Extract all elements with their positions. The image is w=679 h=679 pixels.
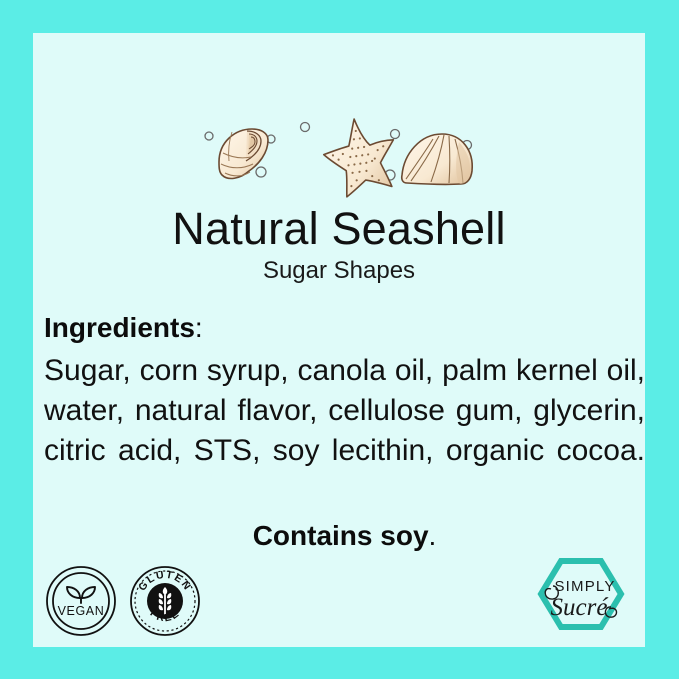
- gluten-free-badge: GLUTEN FREE: [129, 565, 201, 637]
- starfish-icon: [319, 114, 400, 199]
- brand-name-top: SIMPLY: [554, 578, 615, 595]
- ingredients-heading: Ingredients:: [44, 310, 645, 345]
- ingredients-heading-colon: :: [195, 312, 203, 343]
- certification-badges: VEGAN: [45, 565, 201, 637]
- vegan-badge: VEGAN: [45, 565, 117, 637]
- seashell-illustration: [33, 108, 645, 200]
- product-label-card: Natural Seashell Sugar Shapes Ingredient…: [33, 33, 645, 647]
- ingredients-heading-label: Ingredients: [44, 312, 195, 343]
- allergen-statement: Contains soy.: [44, 518, 645, 553]
- vegan-badge-label: VEGAN: [58, 604, 105, 618]
- ingredients-section: Ingredients: Sugar, corn syrup, canola o…: [44, 310, 645, 553]
- allergen-statement-period: .: [429, 520, 437, 551]
- product-title: Natural Seashell: [33, 203, 645, 255]
- badge-row: VEGAN: [45, 551, 633, 637]
- allergen-statement-label: Contains soy: [253, 520, 429, 551]
- leaf-icon: [67, 587, 95, 603]
- product-subtitle: Sugar Shapes: [33, 257, 645, 286]
- ingredients-list: Sugar, corn syrup, canola oil, palm kern…: [44, 351, 645, 512]
- snail-shell-icon: [219, 129, 268, 178]
- brand-logo: SIMPLY Sucré: [529, 553, 633, 635]
- scallop-shell-icon: [402, 134, 472, 184]
- brand-name-script: Sucré: [551, 594, 609, 621]
